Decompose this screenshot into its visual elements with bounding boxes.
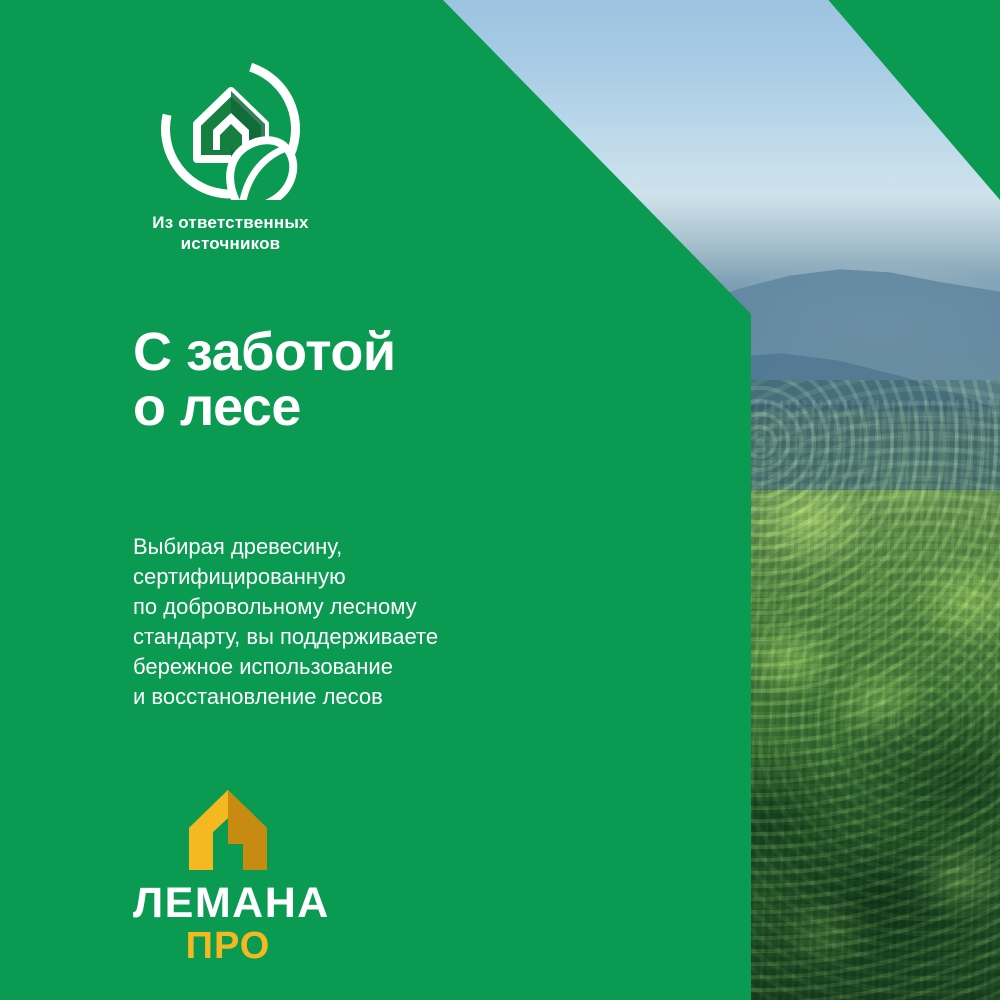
certification-badge: Из ответственных источников (133, 58, 328, 254)
brand-name: ЛЕМАНА (133, 880, 323, 926)
house-roof-icon (173, 788, 283, 874)
certification-caption: Из ответственных источников (133, 212, 328, 254)
body-paragraph: Выбирая древесину, сертифицированную по … (133, 532, 438, 712)
promo-poster: Из ответственных источников С заботой о … (0, 0, 1000, 1000)
page-title: С заботой о лесе (133, 325, 396, 435)
poster-content: Из ответственных источников С заботой о … (0, 0, 1000, 1000)
house-leaf-circle-icon (160, 58, 302, 200)
brand-sub: ПРО (133, 926, 323, 966)
brand-lockup: ЛЕМАНА ПРО (133, 788, 323, 966)
